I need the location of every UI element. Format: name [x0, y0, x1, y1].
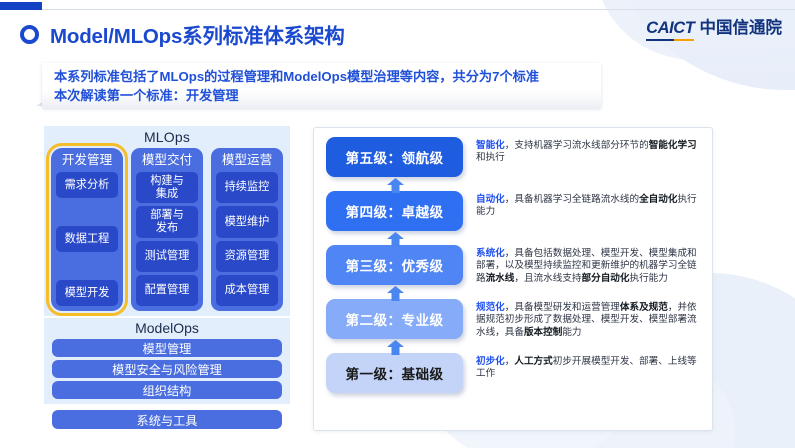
mlops-item[interactable]: 模型开发 — [56, 280, 118, 306]
maturity-level-keyword: 系统化 — [476, 248, 505, 259]
desc-text: ，且流水线支持 — [514, 273, 581, 284]
subtitle-line-1: 本系列标准包括了MLOps的过程管理和ModelOps模型治理等内容，共分为7个… — [54, 67, 539, 86]
maturity-level-row: 第五级：领航级智能化，支持机器学习流水线部分环节的智能化学习和执行 — [326, 137, 702, 191]
desc-text: 能力 — [562, 327, 581, 338]
subtitle-banner: 本系列标准包括了MLOps的过程管理和ModelOps模型治理等内容，共分为7个… — [36, 63, 601, 111]
ring-icon — [20, 25, 39, 44]
mlops-item[interactable]: 需求分析 — [56, 172, 118, 198]
mlops-item[interactable]: 成本管理 — [216, 275, 278, 306]
upward-arrow-icon — [386, 232, 405, 247]
maturity-level-keyword: 初步化 — [476, 356, 505, 367]
subtitle-line-2: 本次解读第一个标准：开发管理 — [54, 86, 539, 105]
desc-emphasis: 人工方式 — [514, 356, 552, 367]
maturity-level-box[interactable]: 第三级：优秀级 — [326, 245, 463, 285]
mlops-column-items: 构建与 集成部署与 发布测试管理配置管理 — [136, 172, 198, 306]
mlops-item[interactable]: 测试管理 — [136, 241, 198, 272]
modelops-title: ModelOps — [44, 320, 290, 336]
top-accent-bar — [0, 2, 42, 10]
desc-emphasis: 智能化学习 — [649, 140, 697, 151]
mlops-panel: MLOps 开发管理需求分析数据工程模型开发模型交付构建与 集成部署与 发布测试… — [44, 126, 290, 316]
logo-mark-text: CAICT — [646, 19, 694, 37]
upward-arrow-icon — [386, 286, 405, 301]
upward-arrow-icon — [386, 178, 405, 193]
mlops-column-head: 开发管理 — [56, 152, 118, 169]
maturity-level-row: 第三级：优秀级系统化，具备包括数据处理、模型开发、模型集成和部署，以及模型持续监… — [326, 245, 702, 299]
caict-logo: CAICT 中国信通院 — [646, 14, 782, 41]
maturity-level-description: 初步化，人工方式初步开展模型开发、部署、上线等工作 — [476, 353, 702, 381]
desc-text: ，具备机器学习全链路流水线的 — [505, 194, 639, 205]
slide-canvas: Model/MLOps系列标准体系架构 CAICT 中国信通院 本系列标准包括了… — [0, 0, 795, 448]
subtitle-text: 本系列标准包括了MLOps的过程管理和ModelOps模型治理等内容，共分为7个… — [54, 67, 539, 105]
mlops-column-items: 需求分析数据工程模型开发 — [56, 172, 118, 306]
maturity-level-keyword: 自动化 — [476, 194, 505, 205]
mlops-item[interactable]: 部署与 发布 — [136, 206, 198, 237]
mlops-item[interactable]: 数据工程 — [56, 226, 118, 252]
mlops-item[interactable]: 配置管理 — [136, 275, 198, 306]
maturity-level-row: 第二级：专业级规范化，具备模型研发和运营管理体系及规范，并依据规范初步形成了数据… — [326, 299, 702, 353]
modelops-row[interactable]: 组织结构 — [52, 381, 282, 399]
modelops-row[interactable]: 模型安全与风险管理 — [52, 360, 282, 378]
mlops-column-head: 模型运营 — [216, 152, 278, 169]
maturity-level-description: 规范化，具备模型研发和运营管理体系及规范，并依据规范初步形成了数据处理、模型开发… — [476, 299, 702, 339]
maturity-level-row: 第一级：基础级初步化，人工方式初步开展模型开发、部署、上线等工作 — [326, 353, 702, 407]
logo-mark: CAICT — [646, 19, 694, 41]
maturity-levels-list: 第五级：领航级智能化，支持机器学习流水线部分环节的智能化学习和执行第四级：卓越级… — [314, 128, 712, 430]
mlops-title: MLOps — [44, 129, 290, 145]
mlops-item[interactable]: 持续监控 — [216, 172, 278, 203]
desc-emphasis: 版本控制 — [524, 327, 562, 338]
system-tools-bar: 系统与工具 — [52, 410, 282, 429]
logo-name-cn: 中国信通院 — [700, 14, 783, 41]
logo-underline — [646, 39, 694, 42]
mlops-item[interactable]: 模型维护 — [216, 206, 278, 237]
desc-text: ，支持机器学习流水线部分环节的 — [505, 140, 649, 151]
mlops-columns: 开发管理需求分析数据工程模型开发模型交付构建与 集成部署与 发布测试管理配置管理… — [51, 148, 283, 311]
modelops-panel: ModelOps 模型管理模型安全与风险管理组织结构 — [44, 318, 290, 404]
logo-underline-blue — [646, 39, 674, 42]
maturity-level-description: 智能化，支持机器学习流水线部分环节的智能化学习和执行 — [476, 137, 702, 165]
modelops-rows: 模型管理模型安全与风险管理组织结构 — [52, 339, 282, 402]
modelops-row[interactable]: 模型管理 — [52, 339, 282, 357]
desc-emphasis: 体系及规范 — [620, 302, 668, 313]
maturity-level-box[interactable]: 第四级：卓越级 — [326, 191, 463, 231]
maturity-level-box[interactable]: 第五级：领航级 — [326, 137, 463, 177]
maturity-level-box[interactable]: 第一级：基础级 — [326, 353, 463, 393]
mlops-column-3[interactable]: 模型运营持续监控模型维护资源管理成本管理 — [211, 148, 283, 311]
maturity-level-description: 系统化，具备包括数据处理、模型开发、模型集成和部署，以及模型持续监控和更新维护的… — [476, 245, 702, 285]
maturity-level-row: 第四级：卓越级自动化，具备机器学习全链路流水线的全自动化执行能力 — [326, 191, 702, 245]
page-title: Model/MLOps系列标准体系架构 — [50, 19, 345, 49]
desc-text: 执行能力 — [630, 273, 668, 284]
mlops-item[interactable]: 资源管理 — [216, 241, 278, 272]
desc-text: ，具备模型研发和运营管理 — [505, 302, 620, 313]
logo-underline-orange — [674, 39, 694, 42]
desc-text: ， — [505, 356, 515, 367]
maturity-level-description: 自动化，具备机器学习全链路流水线的全自动化执行能力 — [476, 191, 702, 219]
mlops-column-items: 持续监控模型维护资源管理成本管理 — [216, 172, 278, 306]
desc-text: 和执行 — [476, 152, 505, 163]
desc-emphasis: 流水线 — [486, 273, 515, 284]
desc-emphasis: 部分自动化 — [582, 273, 630, 284]
mlops-column-head: 模型交付 — [136, 152, 198, 169]
maturity-level-keyword: 智能化 — [476, 140, 505, 151]
upward-arrow-icon — [386, 340, 405, 355]
maturity-level-keyword: 规范化 — [476, 302, 505, 313]
desc-emphasis: 全自动化 — [639, 194, 677, 205]
maturity-level-box[interactable]: 第二级：专业级 — [326, 299, 463, 339]
maturity-levels-card: 第五级：领航级智能化，支持机器学习流水线部分环节的智能化学习和执行第四级：卓越级… — [313, 127, 713, 431]
mlops-column-1[interactable]: 开发管理需求分析数据工程模型开发 — [51, 148, 123, 311]
mlops-item[interactable]: 构建与 集成 — [136, 172, 198, 203]
mlops-column-2[interactable]: 模型交付构建与 集成部署与 发布测试管理配置管理 — [131, 148, 203, 311]
